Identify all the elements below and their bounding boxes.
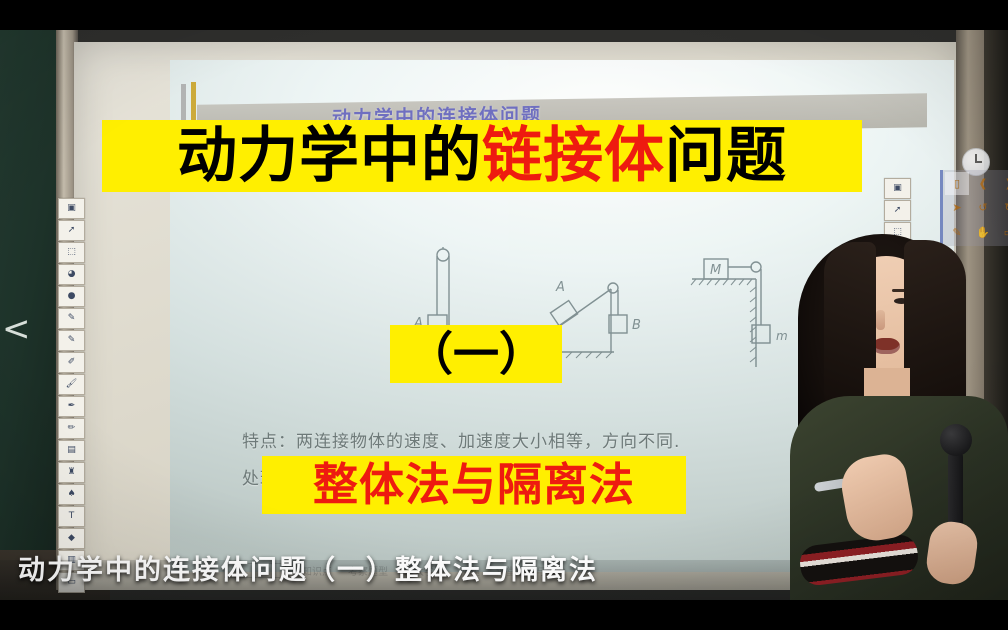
video-frame: < 动力学中的连接体问题 [0,0,1008,630]
redo-icon[interactable]: ↻ [997,197,1008,220]
cursor-icon[interactable]: ➚ [884,200,911,221]
overlay-method-label: 整体法与隔离法 [313,460,635,510]
marker-icon[interactable]: ✒ [58,396,85,417]
diagram3-label-M: M [710,263,721,278]
slide-accent-bar-gold [191,82,196,120]
cursor-icon[interactable]: ➚ [58,220,85,241]
screen-icon[interactable]: ▣ [58,198,85,219]
nose [876,310,885,330]
diagram2-label-b: B [632,318,641,333]
diagram2-label-a: A [555,280,565,295]
stamp-icon[interactable]: ♜ [58,462,85,483]
overlay-part-label: （一） [407,329,545,379]
teacher-presenter [776,228,1008,600]
text-tool-icon[interactable]: T [58,506,85,527]
overlay-main-title: 动力学中的链接体问题 [102,120,862,192]
overlay-title-highlight: 链接体 [482,123,665,189]
slide-text-feature: 特点：两连接物体的速度、加速度大小相等，方向不同. [242,427,862,452]
chalk-chevron-mark: < [2,310,28,350]
prev-page-icon[interactable]: ❰ [971,172,995,195]
letterbox-top [0,0,1008,30]
whiteboard-toolbar-left[interactable]: ▣ ➚ ⬚ ◕ ● ✎ ✎ ✐ 🖌 ✒ ✏ ▤ ♜ ♠ T ◆ ▥ ▭ [58,198,84,593]
letterbox-bottom [0,600,1008,630]
pen-red-icon[interactable]: ✎ [58,330,85,351]
chalkboard: < [0,30,62,550]
overlay-part-number: （一） [390,325,562,383]
pointer-icon[interactable]: ➤ [945,197,969,220]
classroom-scene: < 动力学中的连接体问题 [0,30,1008,600]
fill-color-icon[interactable]: ● [58,286,85,307]
overlay-title-part2: 问题 [665,123,787,189]
undo-icon[interactable]: ↺ [971,197,995,220]
page-icon[interactable]: ▯ [945,172,969,195]
highlighter-icon[interactable]: ✏ [58,418,85,439]
brush-icon[interactable]: 🖌 [58,374,85,395]
pen-thin-icon[interactable]: ✎ [58,308,85,329]
next-page-icon[interactable]: ❱ [997,172,1008,195]
shapes-icon[interactable]: ◆ [58,528,85,549]
eraser-icon[interactable]: ▤ [58,440,85,461]
spray-icon[interactable]: ♠ [58,484,85,505]
overlay-title-part1: 动力学中的 [177,123,482,189]
select-icon[interactable]: ⬚ [58,242,85,263]
paint-bucket-icon[interactable]: ◕ [58,264,85,285]
overlay-method-title: 整体法与隔离法 [262,456,686,514]
mouth [872,338,900,354]
pen-thick-icon[interactable]: ✐ [58,352,85,373]
microphone-head [940,424,972,456]
screen-icon[interactable]: ▣ [884,178,911,199]
